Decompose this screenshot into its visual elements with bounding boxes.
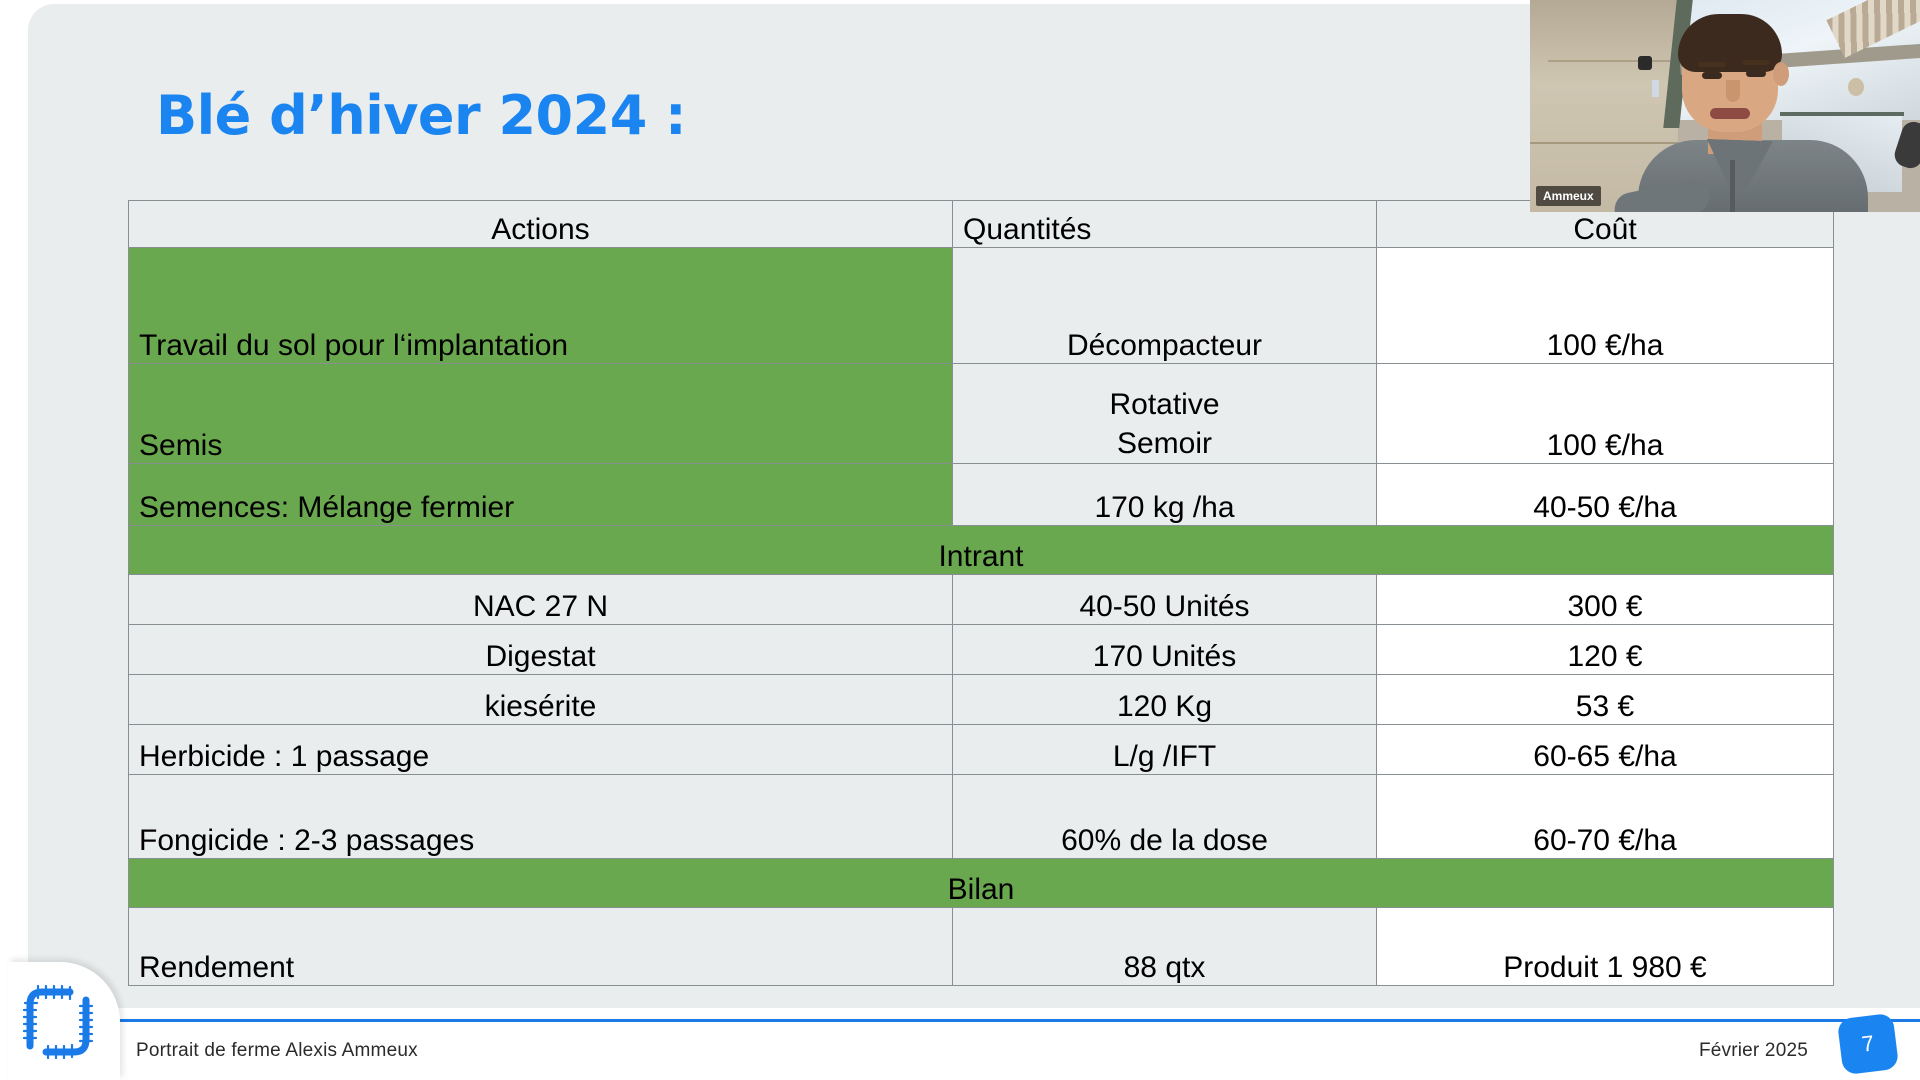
cell-action: Semis (129, 364, 953, 464)
column-header-actions: Actions (129, 201, 953, 248)
cell-quantite: 120 Kg (953, 675, 1377, 725)
cell-quantite: 40-50 Unités (953, 575, 1377, 625)
page-number-badge: 7 (1837, 1013, 1899, 1075)
cell-cout: 40-50 €/ha (1377, 464, 1834, 526)
cell-action: Digestat (129, 625, 953, 675)
cell-cout: 100 €/ha (1377, 364, 1834, 464)
cell-quantite: Rotative Semoir (953, 364, 1377, 464)
cell-cout: 60-70 €/ha (1377, 775, 1834, 859)
table-row: Fongicide : 2-3 passages 60% de la dose … (129, 775, 1834, 859)
cell-cout: 120 € (1377, 625, 1834, 675)
cell-action: Semences: Mélange fermier (129, 464, 953, 526)
column-header-quantites: Quantités (953, 201, 1377, 248)
brand-logo-icon (16, 976, 104, 1068)
video-person-nose (1726, 80, 1740, 102)
cell-quantite: L/g /IFT (953, 725, 1377, 775)
video-bg-bottle (1652, 80, 1659, 97)
video-person-placket (1730, 160, 1735, 212)
crop-cost-table: Actions Quantités Coût Travail du sol po… (128, 200, 1834, 986)
table-row: Semis Rotative Semoir 100 €/ha (129, 364, 1834, 464)
video-bg-wall-knob (1848, 78, 1864, 96)
table-row: NAC 27 N 40-50 Unités 300 € (129, 575, 1834, 625)
footer-subtitle: Portrait de ferme Alexis Ammeux (136, 1040, 418, 1062)
quantite-line-2: Semoir (963, 425, 1366, 463)
video-person-eye-right (1746, 70, 1766, 77)
video-person-mouth (1710, 108, 1750, 119)
video-bg-wall-seam (1530, 142, 1678, 144)
band-label: Intrant (129, 526, 1834, 575)
cell-cout: Produit 1 980 € (1377, 908, 1834, 986)
table-row: Semences: Mélange fermier 170 kg /ha 40-… (129, 464, 1834, 526)
cell-cout: 300 € (1377, 575, 1834, 625)
video-person-eye-left (1702, 72, 1722, 79)
cell-action: Travail du sol pour l‘implantation (129, 248, 953, 364)
quantite-line-1: Rotative (963, 386, 1366, 424)
cell-action: Fongicide : 2-3 passages (129, 775, 953, 859)
slide: Blé d’hiver 2024 : Actions Quantités Coû… (0, 0, 1920, 1080)
video-bg-lamp (1638, 56, 1652, 70)
cell-cout: 100 €/ha (1377, 248, 1834, 364)
cell-action: Rendement (129, 908, 953, 986)
section-band-bilan: Bilan (129, 859, 1834, 908)
cell-cout: 60-65 €/ha (1377, 725, 1834, 775)
cell-cout: 53 € (1377, 675, 1834, 725)
cell-quantite: 170 kg /ha (953, 464, 1377, 526)
footer-date: Février 2025 (1699, 1040, 1808, 1062)
cell-quantite: 60% de la dose (953, 775, 1377, 859)
video-overlay[interactable]: Ammeux (1530, 0, 1920, 212)
table-row: Travail du sol pour l‘implantation Décom… (129, 248, 1834, 364)
section-band-intrant: Intrant (129, 526, 1834, 575)
band-label: Bilan (129, 859, 1834, 908)
video-person-eyebrow-right (1742, 60, 1770, 65)
cell-action-detail: Mélange fermier (289, 491, 514, 524)
video-bg-window-frame (1780, 112, 1904, 116)
cell-action: kiesérite (129, 675, 953, 725)
video-participant-name: Ammeux (1536, 186, 1601, 206)
cell-action: Herbicide : 1 passage (129, 725, 953, 775)
cell-quantite: 88 qtx (953, 908, 1377, 986)
table-row: kiesérite 120 Kg 53 € (129, 675, 1834, 725)
cell-action-label: Semences: (139, 491, 289, 524)
table-row: Digestat 170 Unités 120 € (129, 625, 1834, 675)
page-title: Blé d’hiver 2024 : (156, 84, 686, 147)
cell-action: NAC 27 N (129, 575, 953, 625)
cell-quantite: Décompacteur (953, 248, 1377, 364)
slide-footer: Portrait de ferme Alexis Ammeux Février … (0, 1008, 1920, 1080)
video-person-ear (1773, 62, 1789, 86)
cell-quantite: 170 Unités (953, 625, 1377, 675)
video-bg-wall-seam-upper (1548, 60, 1678, 62)
video-person-eyebrow-left (1698, 62, 1726, 67)
footer-divider (110, 1019, 1920, 1022)
table-row: Rendement 88 qtx Produit 1 980 € (129, 908, 1834, 986)
table-row: Herbicide : 1 passage L/g /IFT 60-65 €/h… (129, 725, 1834, 775)
